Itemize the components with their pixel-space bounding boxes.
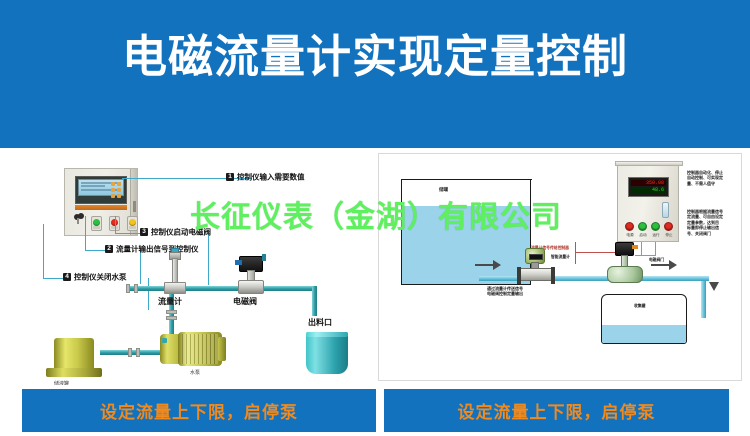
annotation-1: 1控制仪输入需要数值 [226, 173, 305, 181]
push-button-label: 电源 [624, 233, 636, 238]
right-pipe-main [479, 276, 709, 281]
push-button-row: 电源 启动 运行 停止 [625, 222, 675, 240]
cabinet-handle [133, 201, 136, 212]
pipe-horizontal-outlet [258, 286, 316, 291]
smart-flow-meter-body [519, 268, 553, 281]
collection-bucket [306, 332, 348, 374]
annotation-4: 4控制仪关闭水泵 [63, 273, 127, 281]
meter-lower-value: 48.6 [631, 187, 666, 193]
wire-valve-v2 [655, 242, 656, 256]
flow-arrow-line-2 [651, 264, 669, 266]
flange [134, 284, 138, 293]
cabinet-top-cap [615, 161, 683, 166]
right-pipe-elbow [679, 276, 706, 281]
leader-line-4-down [148, 278, 149, 310]
push-button-label: 停止 [663, 233, 675, 238]
indicator-lamp-yellow[interactable] [127, 216, 138, 231]
leader-line-3-v [115, 216, 116, 234]
tank-label-right: 储罐 [439, 187, 448, 193]
tank-body [54, 338, 94, 370]
footer-banner-left: 设定流量上下限，启停泵 [22, 389, 376, 432]
receiving-tank [601, 294, 687, 344]
flow-meter-body [164, 282, 186, 294]
note-top: 控制器自动化、停止 自动控制、可实现定 量、不需人值守 [687, 170, 723, 186]
diagram-area: 1控制仪输入需要数值 3控制仪启动电磁阀 2流量计输出信号到控制仪 4控制仪关闭… [0, 148, 750, 385]
push-button-label: 运行 [650, 233, 662, 238]
annotation-number: 2 [105, 245, 113, 253]
annotation-text: 控制仪启动电磁阀 [151, 227, 211, 236]
lamp-base [129, 226, 136, 229]
flange [166, 310, 177, 314]
motor-fins [182, 334, 218, 364]
annotation-number: 4 [63, 273, 71, 281]
hmi-key[interactable] [117, 194, 121, 198]
tank-base [46, 368, 102, 377]
solenoid-valve-label: 电磁阀 [233, 296, 257, 307]
flow-meter-neck [172, 258, 178, 284]
indicator-lamp-green[interactable] [91, 216, 102, 231]
lcd-line [81, 185, 105, 187]
lamp-bulb [93, 219, 100, 226]
hmi-key[interactable] [111, 182, 115, 186]
page-root: 电磁流量计实现定量控制 [0, 0, 750, 436]
flange [166, 316, 177, 320]
flow-meter-label: 流量计 [158, 296, 182, 307]
leader-line-2-v [85, 216, 86, 250]
flow-arrow-head-3 [709, 282, 719, 291]
tank-top-line [401, 179, 532, 181]
hmi-bottom-bar [75, 205, 127, 210]
meter-flange [551, 267, 555, 284]
leader-line-4-h [43, 278, 63, 279]
hmi-key[interactable] [111, 194, 115, 198]
selector-knob[interactable] [74, 213, 84, 221]
leader-line-2-down [140, 250, 141, 284]
pump-housing [160, 334, 180, 364]
push-button-label: 启动 [637, 233, 649, 238]
flow-arrow-head-2 [669, 260, 677, 270]
callout-flow-meter-name: 智能流量计 [551, 255, 570, 260]
motor-caption: 水泵 [190, 369, 200, 376]
right-pipe-downspout [701, 276, 706, 318]
flow-arrow-head-1 [493, 260, 501, 270]
tank-liquid [402, 206, 530, 284]
left-diagram-panel: 1控制仪输入需要数值 3控制仪启动电磁阀 2流量计输出信号到控制仪 4控制仪关闭… [30, 154, 380, 384]
leader-line-4-v [43, 224, 44, 278]
leader-line-3-h [115, 233, 140, 234]
lamp-bulb [129, 219, 136, 226]
bucket-rim [306, 332, 348, 337]
lamp-base [93, 226, 100, 229]
note-bottom: 控制器根据流量信号 定流量、可自由设定 定量参数，达到目 标量即停止输出信 号、… [687, 209, 723, 236]
solenoid-valve-body [238, 280, 264, 294]
pump-inlet [162, 338, 167, 343]
wire-valve-h [635, 255, 655, 256]
push-button-power[interactable] [625, 222, 634, 231]
annotation-number: 1 [226, 173, 234, 181]
hmi-key[interactable] [117, 182, 121, 186]
flange [128, 348, 132, 357]
pipe-downspout [312, 286, 317, 316]
annotation-text: 流量计输出信号到控制仪 [116, 244, 199, 253]
wire-valve-v [641, 242, 642, 256]
meter-flange [517, 267, 521, 284]
footer-area: 设定流量上下限，启停泵 设定流量上下限，启停泵 [0, 385, 750, 436]
footer-banner-right-text: 设定流量上下限，启停泵 [458, 398, 656, 423]
right-diagram-panel: 储罐 350.08 48.6 电源 启动 运行 停止 [378, 153, 742, 381]
meter-upper-value: 350.08 [631, 180, 666, 186]
hmi-key[interactable] [111, 188, 115, 192]
pump-motor [178, 332, 222, 366]
right-valve-body [607, 266, 643, 283]
right-solenoid-coil [615, 242, 634, 256]
leader-line-2-h [85, 250, 105, 251]
callout-valve-name: 电磁阀门 [649, 258, 664, 263]
hmi-key[interactable] [117, 188, 121, 192]
pipe-tank-to-pump [100, 350, 164, 355]
wire-meter-signal [575, 242, 576, 264]
annotation-text: 控制仪关闭水泵 [74, 272, 127, 281]
flow-arrow-line-1 [475, 264, 493, 266]
footer-banner-right: 设定流量上下限，启停泵 [384, 389, 729, 432]
footer-banner-left-text: 设定流量上下限，启停泵 [100, 398, 298, 423]
push-button-run[interactable] [651, 222, 660, 231]
hmi-screen [75, 176, 127, 204]
annotation-text: 控制仪输入需要数值 [237, 172, 305, 181]
annotation-2: 2流量计输出信号到控制仪 [105, 245, 199, 253]
flange [126, 284, 130, 293]
push-button-start[interactable] [638, 222, 647, 231]
flange [136, 348, 140, 357]
control-cabinet-right: 350.08 48.6 电源 启动 运行 停止 [617, 164, 679, 242]
motor-end-cap [218, 337, 226, 361]
knob-stem [77, 218, 79, 224]
storage-tank-left [46, 338, 102, 378]
receiving-tank-liquid [602, 325, 686, 343]
leader-line-3-down [208, 233, 209, 285]
annotation-3: 3控制仪启动电磁阀 [140, 228, 211, 236]
callout-pipe-note: 通过流量计传送信号 电磁阀控制定量输出 [487, 286, 523, 297]
digital-meter: 350.08 48.6 [628, 177, 669, 197]
receiving-tank-label: 收集罐 [634, 304, 645, 309]
storage-tank-right [401, 180, 531, 285]
hmi-keypad[interactable] [110, 181, 123, 195]
discharge-port-label: 出料口 [308, 317, 332, 328]
annotation-number: 3 [140, 228, 148, 236]
page-title: 电磁流量计实现定量控制 [0, 34, 750, 79]
toggle-switch[interactable] [662, 202, 669, 218]
push-button-stop[interactable] [664, 222, 673, 231]
smart-flow-meter-display [529, 254, 543, 260]
header-banner: 电磁流量计实现定量控制 [0, 0, 750, 148]
